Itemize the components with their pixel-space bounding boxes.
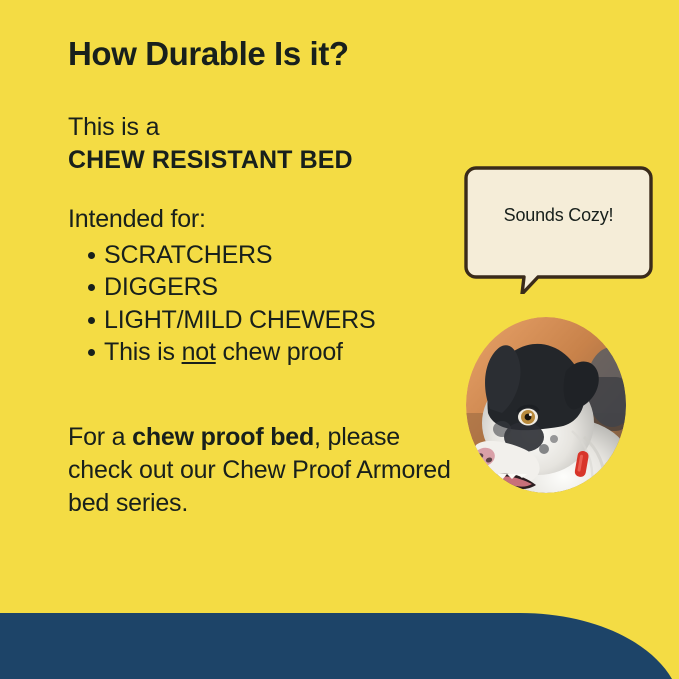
product-statement-line2: CHEW RESISTANT BED — [68, 144, 353, 177]
product-statement: This is a CHEW RESISTANT BED — [68, 111, 353, 177]
closing-prefix: For a — [68, 423, 132, 451]
list-item: LIGHT/MILD CHEWERS — [68, 304, 375, 336]
speech-bubble-text: Sounds Cozy! — [462, 205, 655, 226]
list-item: DIGGERS — [68, 271, 375, 303]
promo-poster: How Durable Is it? This is a CHEW RESIST… — [0, 0, 679, 679]
list-item-emphasis: not — [182, 338, 216, 366]
dog-photo-image — [466, 317, 626, 493]
closing-paragraph: For a chew proof bed, please check out o… — [68, 421, 468, 520]
product-statement-line1: This is a — [68, 113, 159, 141]
list-item-label: DIGGERS — [104, 273, 218, 301]
page-title: How Durable Is it? — [68, 36, 349, 72]
list-item: SCRATCHERS — [68, 239, 375, 271]
list-item-label: SCRATCHERS — [104, 241, 272, 269]
intended-for-list: SCRATCHERS DIGGERS LIGHT/MILD CHEWERS Th… — [68, 239, 375, 368]
speech-bubble: Sounds Cozy! — [462, 164, 667, 294]
list-item-prefix: This is — [104, 338, 182, 366]
speech-bubble-shape — [462, 164, 667, 294]
bullet-dot-icon — [88, 349, 95, 356]
dog-photo — [466, 317, 626, 493]
intended-for-label: Intended for: — [68, 205, 206, 234]
bullet-dot-icon — [88, 317, 95, 324]
list-item-suffix: chew proof — [216, 338, 343, 366]
bullet-dot-icon — [88, 252, 95, 259]
bottom-accent-shape — [0, 611, 679, 679]
bullet-dot-icon — [88, 284, 95, 291]
list-item-label: LIGHT/MILD CHEWERS — [104, 306, 375, 334]
list-item: This is not chew proof — [68, 336, 375, 368]
bottom-accent-band — [0, 611, 679, 679]
closing-bold: chew proof bed — [132, 423, 314, 451]
